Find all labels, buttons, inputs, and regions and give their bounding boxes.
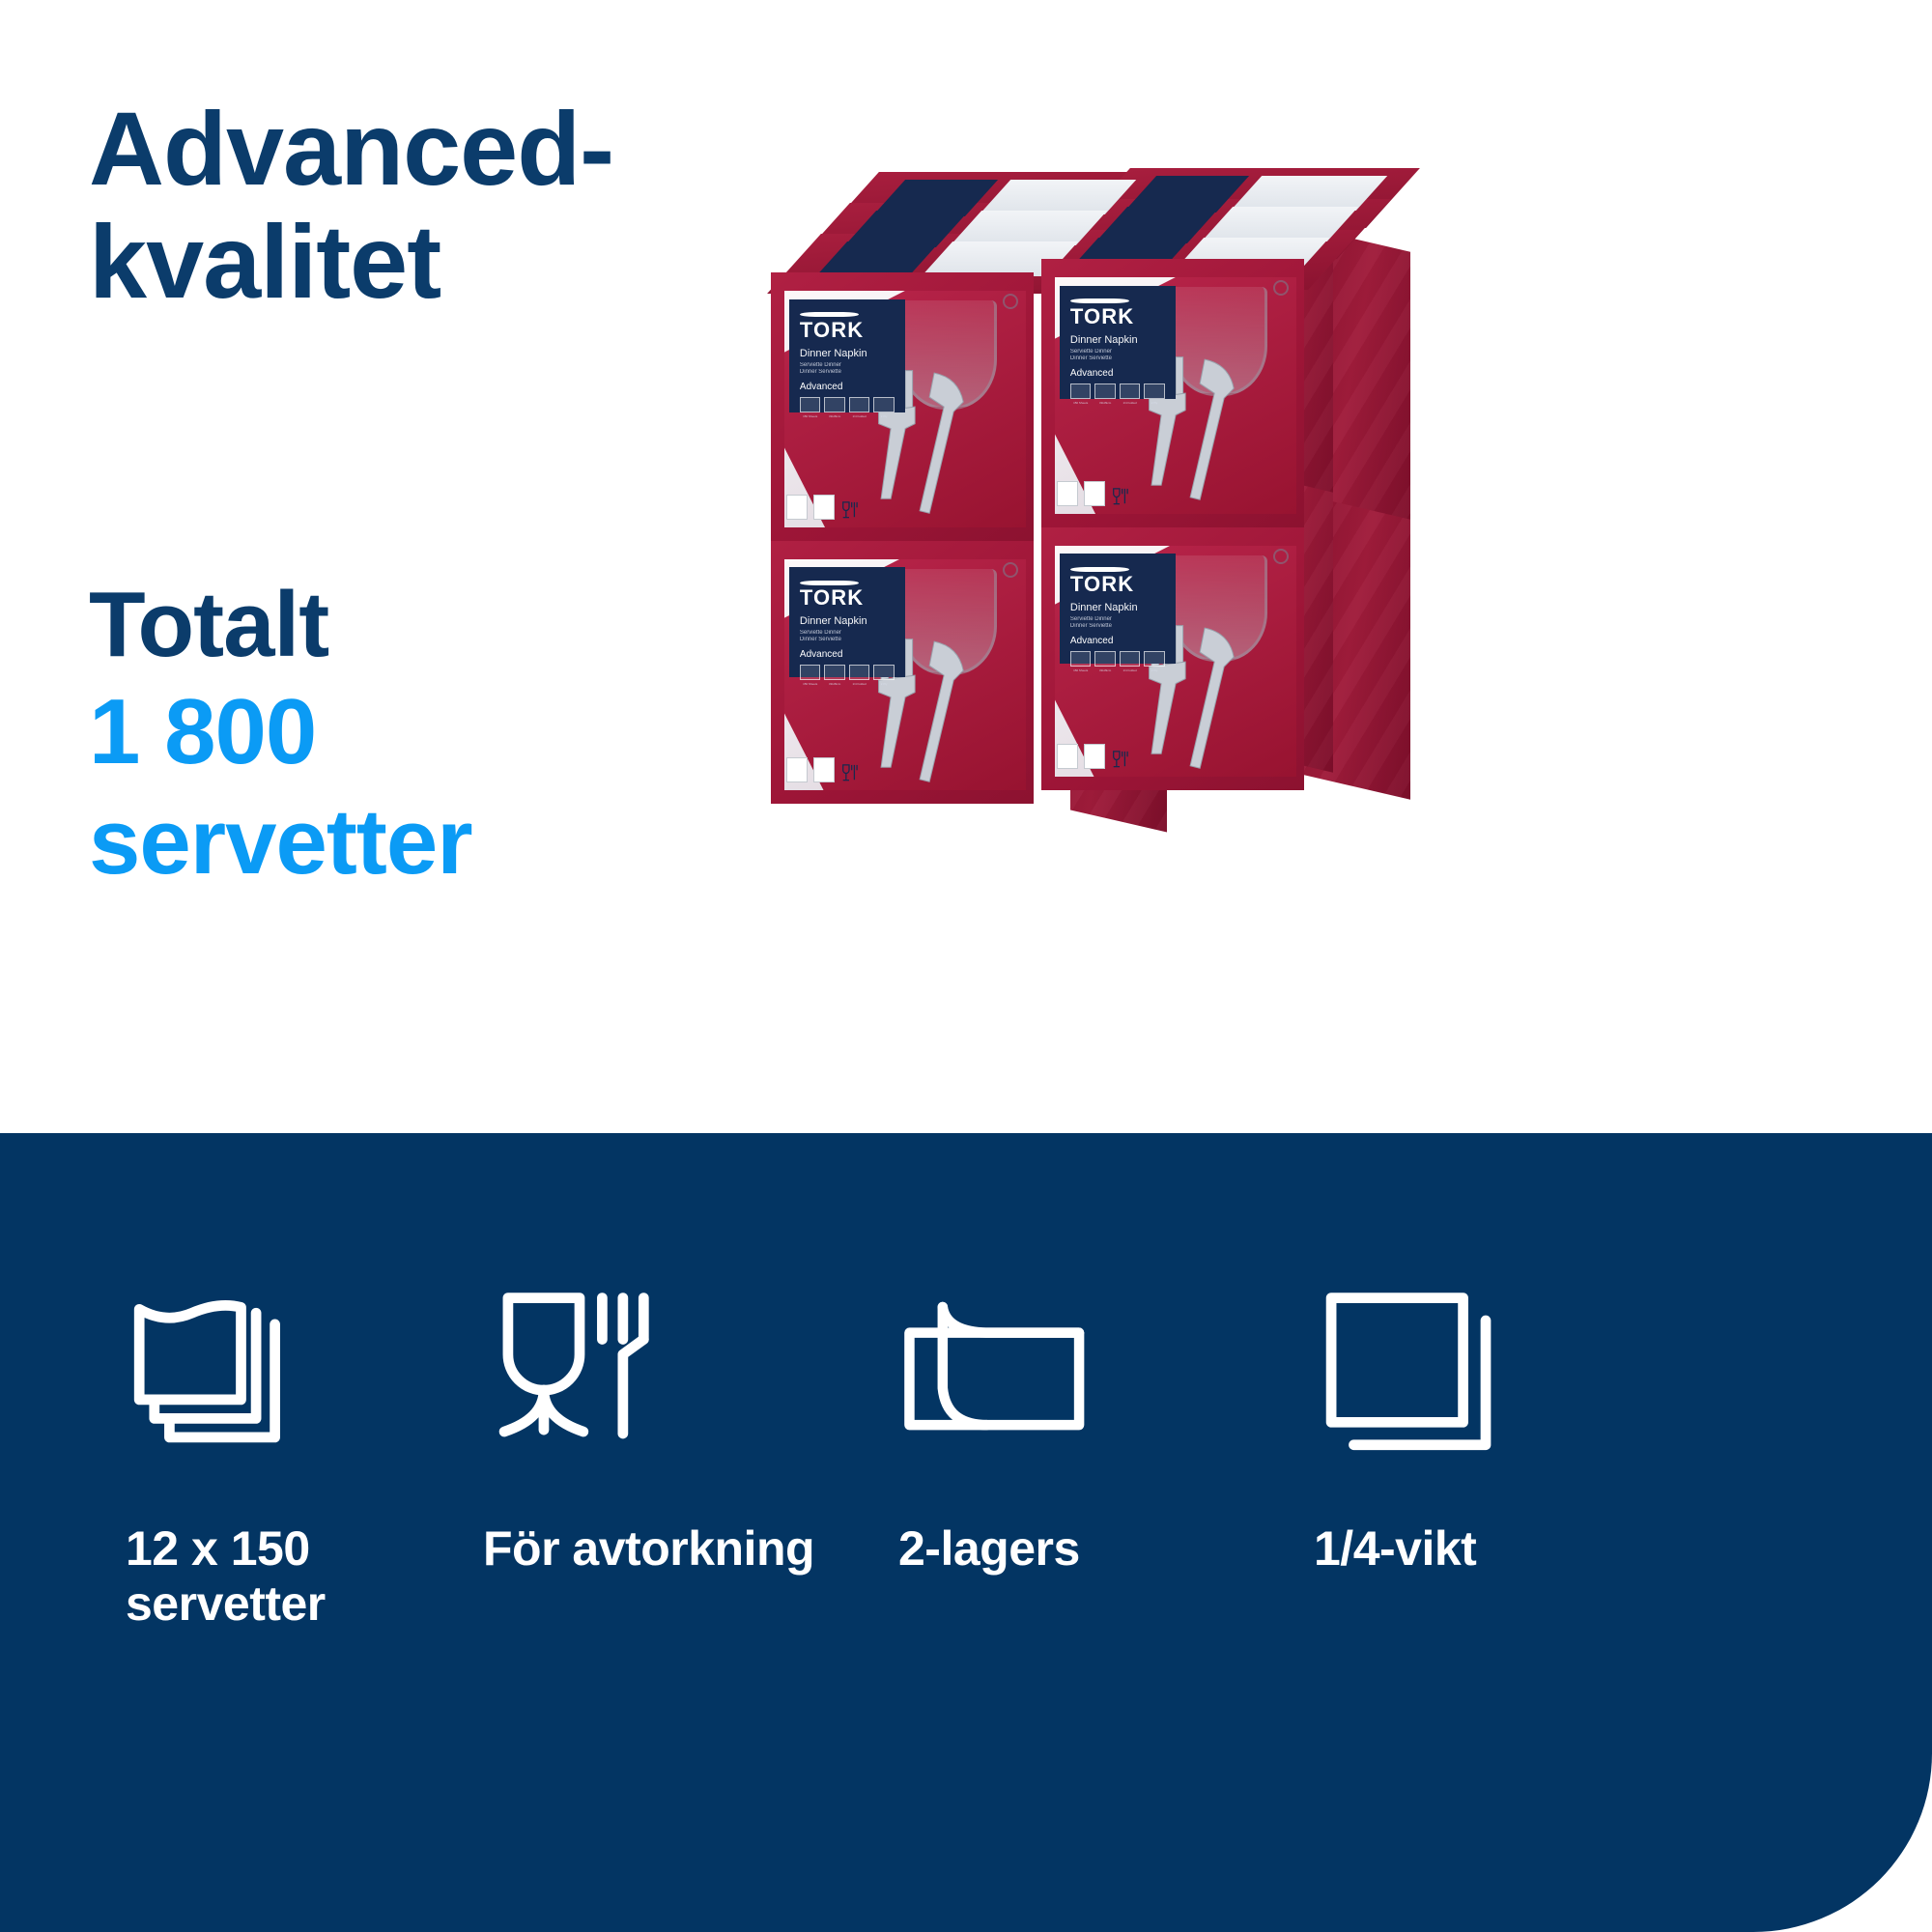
tork-swoosh-icon bbox=[1070, 567, 1129, 572]
quarter-fold-square-icon bbox=[1314, 1273, 1662, 1481]
feature-label-line-1: För avtorkning bbox=[483, 1521, 814, 1576]
pack-spec: 1/4 Folded bbox=[1120, 651, 1141, 672]
tork-wordmark: TORK bbox=[800, 585, 864, 610]
pack-spec: 1/4 Folded bbox=[849, 397, 870, 418]
pack-front-label: TORK Dinner Napkin Serviette Dinner Dinn… bbox=[1060, 554, 1176, 664]
hang-hole-icon bbox=[1003, 294, 1018, 309]
pack-certification-row bbox=[1057, 481, 1128, 506]
pack-spec-caption: 39x39cm bbox=[1094, 401, 1116, 405]
total-count-block: Totalt 1 800 servetter bbox=[89, 572, 823, 896]
sheets-icon bbox=[1070, 651, 1092, 667]
tork-logo: TORK bbox=[1070, 567, 1165, 595]
fold-icon bbox=[849, 397, 870, 412]
pack-product-title: Dinner Napkin bbox=[1070, 602, 1165, 613]
ply-icon bbox=[1144, 651, 1165, 667]
hang-hole-icon bbox=[1003, 562, 1018, 578]
pack-spec-caption: 150 Sheets bbox=[1070, 401, 1092, 405]
tork-logo: TORK bbox=[800, 312, 895, 340]
feature-list: 12 x 150 servetter bbox=[0, 1133, 1932, 1932]
pack-spec-caption: 150 Sheets bbox=[800, 682, 821, 686]
fold-icon bbox=[1120, 384, 1141, 399]
pack-product-title: Dinner Napkin bbox=[800, 615, 895, 627]
pack-subtitle-1: Serviette Dinner bbox=[1070, 616, 1165, 622]
pack-spec: 2 Ply bbox=[1144, 384, 1165, 405]
glass-and-fork-food-safe-icon bbox=[483, 1273, 869, 1481]
pack-front-label: TORK Dinner Napkin Serviette Dinner Dinn… bbox=[789, 299, 905, 412]
food-contact-safe-icon bbox=[840, 763, 858, 782]
pack-spec-caption: 1/4 Folded bbox=[849, 414, 870, 418]
fsc-certification-icon bbox=[786, 495, 808, 520]
page-title: Advanced- kvalitet bbox=[89, 93, 823, 318]
tork-logo: TORK bbox=[1070, 298, 1165, 327]
marketing-image-canvas: Advanced- kvalitet Totalt 1 800 servette… bbox=[0, 0, 1932, 1932]
pack-front-label: TORK Dinner Napkin Serviette Dinner Dinn… bbox=[1060, 286, 1176, 399]
product-pack: TORK Dinner Napkin Serviette Dinner Dinn… bbox=[771, 272, 1034, 541]
eu-ecolabel-icon bbox=[813, 757, 835, 782]
pack-spec: 39x39cm bbox=[1094, 384, 1116, 405]
pack-product-title: Dinner Napkin bbox=[1070, 334, 1165, 346]
feature-label-line-1: 12 x 150 bbox=[126, 1521, 310, 1576]
pack-spec-caption: 2 Ply bbox=[873, 682, 895, 686]
pack-certification-row bbox=[1057, 744, 1128, 769]
pack-spec: 39x39cm bbox=[824, 665, 845, 686]
sheets-icon bbox=[1070, 384, 1092, 399]
pack-subtitle-2: Dinner Serviette bbox=[800, 637, 895, 642]
food-contact-safe-icon bbox=[1111, 750, 1128, 769]
size-icon bbox=[824, 665, 845, 680]
pack-certification-row bbox=[786, 495, 858, 520]
pack-spec-caption: 39x39cm bbox=[1094, 668, 1116, 672]
pack-spec: 150 Sheets bbox=[800, 665, 821, 686]
two-ply-layers-icon bbox=[898, 1273, 1256, 1481]
eu-ecolabel-icon bbox=[1084, 481, 1105, 506]
pack-spec: 2 Ply bbox=[873, 665, 895, 686]
pack-spec: 39x39cm bbox=[824, 397, 845, 418]
feature-item-wiping: För avtorkning bbox=[464, 1273, 869, 1577]
pack-spec: 1/4 Folded bbox=[1120, 384, 1141, 405]
hang-hole-icon bbox=[1273, 549, 1289, 564]
pack-product-title: Dinner Napkin bbox=[800, 348, 895, 359]
pack-spec: 150 Sheets bbox=[800, 397, 821, 418]
feature-item-fold: 1/4-vikt bbox=[1256, 1273, 1662, 1577]
pack-subtitle-1: Serviette Dinner bbox=[800, 630, 895, 636]
tork-logo: TORK bbox=[800, 581, 895, 609]
food-contact-safe-icon bbox=[840, 500, 858, 520]
size-icon bbox=[824, 397, 845, 412]
pack-spec-caption: 2 Ply bbox=[1144, 401, 1165, 405]
feature-label-line-2: servetter bbox=[126, 1577, 326, 1631]
fsc-certification-icon bbox=[1057, 481, 1078, 506]
pack-spec-caption: 150 Sheets bbox=[1070, 668, 1092, 672]
product-pack: TORK Dinner Napkin Serviette Dinner Dinn… bbox=[771, 541, 1034, 804]
pack-quality-tier: Advanced bbox=[800, 382, 895, 392]
tork-wordmark: TORK bbox=[1070, 572, 1134, 596]
pack-front-label: TORK Dinner Napkin Serviette Dinner Dinn… bbox=[789, 567, 905, 677]
feature-label: För avtorkning bbox=[483, 1521, 869, 1577]
sheets-icon bbox=[800, 665, 821, 680]
pack-spec: 150 Sheets bbox=[1070, 384, 1092, 405]
product-image: TORK Dinner Napkin Serviette Dinner Dinn… bbox=[763, 164, 1459, 802]
pack-spec-caption: 2 Ply bbox=[1144, 668, 1165, 672]
pack-spec-caption: 1/4 Folded bbox=[849, 682, 870, 686]
pack-spec-row: 150 Sheets 39x39cm 1/4 Folded 2 Ply bbox=[1070, 651, 1165, 672]
sheets-icon bbox=[800, 397, 821, 412]
tork-wordmark: TORK bbox=[1070, 304, 1134, 328]
tork-wordmark: TORK bbox=[800, 318, 864, 342]
ply-icon bbox=[1144, 384, 1165, 399]
tork-swoosh-icon bbox=[1070, 298, 1129, 303]
pack-spec-caption: 2 Ply bbox=[873, 414, 895, 418]
pack-subtitle-2: Dinner Serviette bbox=[1070, 355, 1165, 361]
pack-subtitle-1: Serviette Dinner bbox=[1070, 349, 1165, 355]
total-label: Totalt bbox=[89, 572, 823, 677]
ply-icon bbox=[873, 397, 895, 412]
pack-quality-tier: Advanced bbox=[1070, 636, 1165, 646]
pack-spec: 2 Ply bbox=[873, 397, 895, 418]
pack-spec-caption: 39x39cm bbox=[824, 414, 845, 418]
pack-subtitle-2: Dinner Serviette bbox=[800, 369, 895, 375]
feature-label: 2-lagers bbox=[898, 1521, 1256, 1577]
product-pack: TORK Dinner Napkin Serviette Dinner Dinn… bbox=[1041, 527, 1304, 790]
pack-spec: 1/4 Folded bbox=[849, 665, 870, 686]
feature-panel: 12 x 150 servetter bbox=[0, 1133, 1932, 1932]
pack-spec-caption: 1/4 Folded bbox=[1120, 668, 1141, 672]
feature-label-line-1: 1/4-vikt bbox=[1314, 1521, 1476, 1576]
tork-swoosh-icon bbox=[800, 312, 859, 317]
pack-spec-caption: 1/4 Folded bbox=[1120, 401, 1141, 405]
pack-spec-row: 150 Sheets 39x39cm 1/4 Folded 2 Ply bbox=[1070, 384, 1165, 405]
feature-item-pack-count: 12 x 150 servetter bbox=[77, 1273, 464, 1632]
size-icon bbox=[1094, 384, 1116, 399]
feature-item-ply: 2-lagers bbox=[869, 1273, 1256, 1577]
eu-ecolabel-icon bbox=[1084, 744, 1105, 769]
feature-label: 12 x 150 servetter bbox=[126, 1521, 464, 1632]
headline-line-2: kvalitet bbox=[89, 206, 823, 319]
total-number: 1 800 bbox=[89, 677, 823, 786]
pack-spec: 2 Ply bbox=[1144, 651, 1165, 672]
pack-subtitle-1: Serviette Dinner bbox=[800, 362, 895, 368]
feature-label-line-1: 2-lagers bbox=[898, 1521, 1080, 1576]
food-contact-safe-icon bbox=[1111, 487, 1128, 506]
pack-spec: 150 Sheets bbox=[1070, 651, 1092, 672]
total-unit: servetter bbox=[89, 787, 823, 896]
stacked-napkins-icon bbox=[126, 1273, 464, 1481]
pack-quality-tier: Advanced bbox=[1070, 368, 1165, 379]
tork-swoosh-icon bbox=[800, 581, 859, 585]
pack-quality-tier: Advanced bbox=[800, 649, 895, 660]
fold-icon bbox=[849, 665, 870, 680]
pack-spec-row: 150 Sheets 39x39cm 1/4 Folded 2 Ply bbox=[800, 665, 895, 686]
pack-certification-row bbox=[786, 757, 858, 782]
pack-spec-row: 150 Sheets 39x39cm 1/4 Folded 2 Ply bbox=[800, 397, 895, 418]
pack-spec: 39x39cm bbox=[1094, 651, 1116, 672]
fold-icon bbox=[1120, 651, 1141, 667]
pack-spec-caption: 150 Sheets bbox=[800, 414, 821, 418]
eu-ecolabel-icon bbox=[813, 495, 835, 520]
hang-hole-icon bbox=[1273, 280, 1289, 296]
feature-label: 1/4-vikt bbox=[1314, 1521, 1662, 1577]
product-pack: TORK Dinner Napkin Serviette Dinner Dinn… bbox=[1041, 259, 1304, 527]
fsc-certification-icon bbox=[1057, 744, 1078, 769]
fsc-certification-icon bbox=[786, 757, 808, 782]
pack-spec-caption: 39x39cm bbox=[824, 682, 845, 686]
ply-icon bbox=[873, 665, 895, 680]
headline-line-1: Advanced- bbox=[89, 90, 613, 207]
size-icon bbox=[1094, 651, 1116, 667]
pack-subtitle-2: Dinner Serviette bbox=[1070, 623, 1165, 629]
